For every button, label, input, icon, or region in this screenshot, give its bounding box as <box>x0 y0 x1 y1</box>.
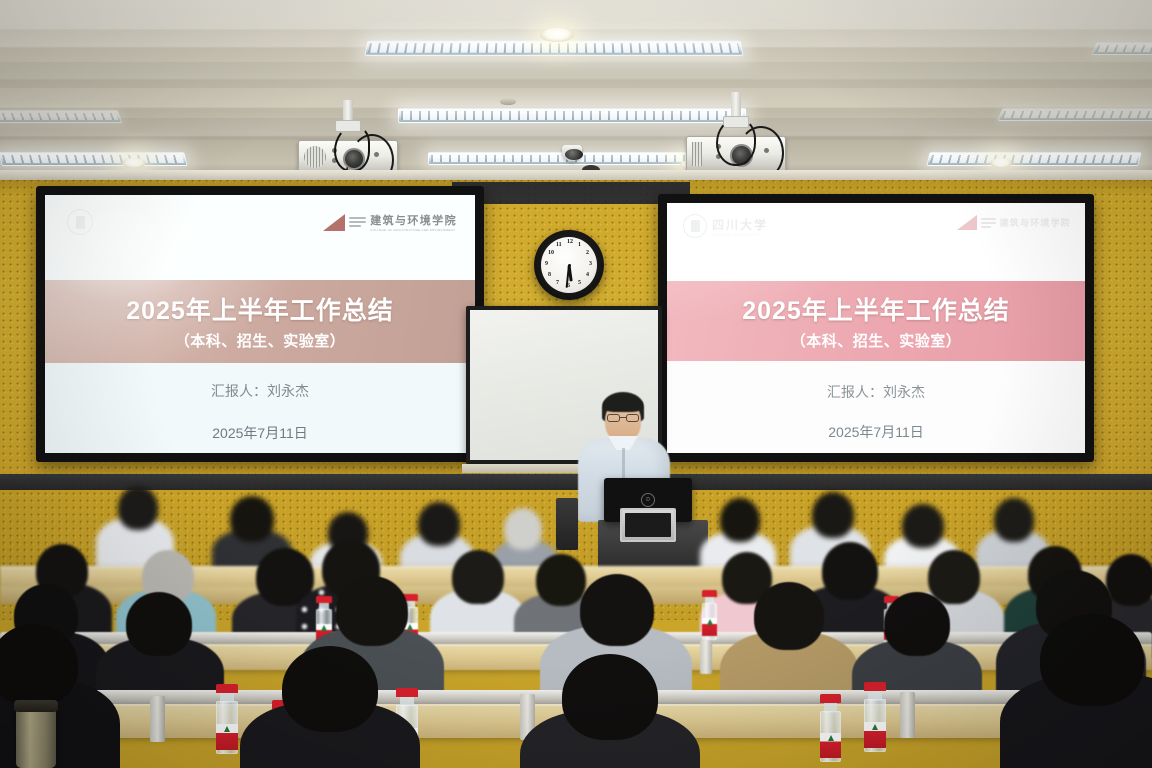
university-logo <box>67 209 93 235</box>
ceiling-projector <box>676 112 796 176</box>
slide-title: 2025年上半年工作总结 <box>742 291 1010 327</box>
recessed-downlight <box>122 158 146 168</box>
clock-numeral: 9 <box>545 261 548 267</box>
college-name-cn: 建筑与环境学院 <box>370 212 457 228</box>
left-screen[interactable]: 建筑与环境学院 COLLEGE OF ARCHITECTURE AND ENVI… <box>36 186 484 462</box>
ceiling-troffer <box>364 40 743 55</box>
wall-ledge <box>0 170 1152 180</box>
clock-numeral: 12 <box>567 239 573 245</box>
list-item <box>282 646 378 732</box>
ceiling-troffer <box>0 110 122 123</box>
slide-title-band: 2025年上半年工作总结 （本科、招生、实验室） <box>45 280 475 363</box>
clock-numeral: 5 <box>578 280 581 286</box>
list-item <box>1040 614 1144 706</box>
university-name-en: SICHUAN UNIVERSITY <box>712 233 768 237</box>
wall-upper-dark-band <box>452 182 690 204</box>
college-logo: 建筑与环境学院 <box>957 215 1071 230</box>
list-item <box>0 624 78 706</box>
clock-center-pin <box>568 264 571 267</box>
presenter-glasses <box>606 414 640 423</box>
row-near <box>0 620 1152 768</box>
presenter-fringe <box>603 396 643 412</box>
slide-date: 2025年7月11日 <box>667 422 1085 442</box>
clock-numeral: 3 <box>589 261 592 267</box>
clock-numeral: 1 <box>578 242 581 248</box>
clock-numeral: 10 <box>548 250 554 256</box>
right-screen[interactable]: 四川大学 SICHUAN UNIVERSITY 建筑与环境学院 2025年上半年… <box>658 194 1094 462</box>
ceiling-troffer <box>1091 42 1152 55</box>
university-name-cn: 四川大学 <box>712 216 768 233</box>
ceiling-troffer <box>998 108 1152 121</box>
slide-presenter: 汇报人：刘永杰 <box>45 381 475 401</box>
clock-numeral: 2 <box>586 250 589 256</box>
recessed-downlight <box>540 28 574 42</box>
clock-numeral: 8 <box>548 272 551 278</box>
ceiling-troffer <box>926 152 1141 166</box>
slide-title-band: 2025年上半年工作总结 （本科、招生、实验室） <box>667 281 1085 361</box>
slide-date: 2025年7月11日 <box>45 423 475 443</box>
slide-presenter: 汇报人：刘永杰 <box>667 382 1085 402</box>
thermos-cup[interactable] <box>16 706 56 768</box>
college-logo: 建筑与环境学院 COLLEGE OF ARCHITECTURE AND ENVI… <box>323 212 457 232</box>
ceiling-troffer <box>0 152 188 166</box>
lecture-hall-photo: 建筑与环境学院 COLLEGE OF ARCHITECTURE AND ENVI… <box>0 0 1152 768</box>
college-name-cn: 建筑与环境学院 <box>1000 216 1071 229</box>
slide-subtitle: （本科、招生、实验室） <box>791 330 962 351</box>
college-name-en: COLLEGE OF ARCHITECTURE AND ENVIRONMENT <box>370 228 457 232</box>
wall-clock: 121234567891011 <box>534 230 604 300</box>
slide-right: 四川大学 SICHUAN UNIVERSITY 建筑与环境学院 2025年上半年… <box>667 203 1085 453</box>
list-item <box>118 486 158 530</box>
recessed-downlight <box>990 158 1012 168</box>
dome-camera <box>562 145 582 161</box>
clock-numeral: 4 <box>586 272 589 278</box>
clock-numeral: 6 <box>567 283 570 289</box>
university-logo: 四川大学 SICHUAN UNIVERSITY <box>683 214 768 238</box>
list-item <box>562 654 658 740</box>
thermos-lid <box>14 700 58 712</box>
clock-face: 121234567891011 <box>541 237 597 293</box>
slide-title: 2025年上半年工作总结 <box>126 291 394 327</box>
slide-subtitle: （本科、招生、实验室） <box>175 330 346 351</box>
slide-left: 建筑与环境学院 COLLEGE OF ARCHITECTURE AND ENVI… <box>45 195 475 453</box>
clock-numeral: 11 <box>556 242 562 248</box>
clock-numeral: 7 <box>556 280 559 286</box>
smoke-detector-icon <box>500 98 516 105</box>
